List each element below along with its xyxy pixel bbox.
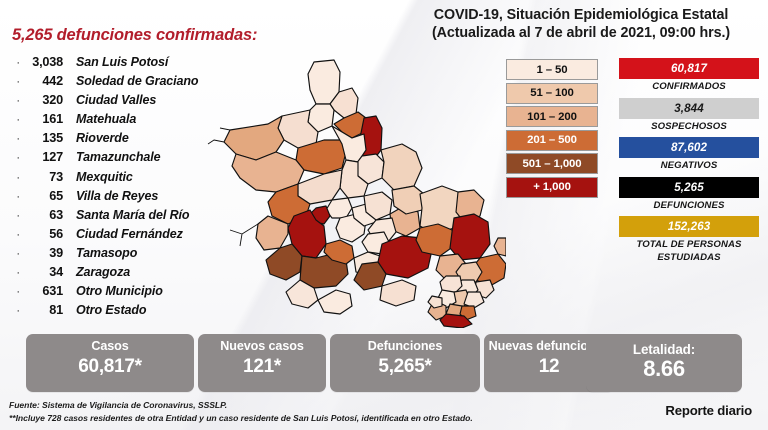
death-count: 631 <box>21 284 63 298</box>
map-region-san-ciro[interactable] <box>380 280 416 306</box>
bullet-icon: · <box>12 230 20 241</box>
map-region-san-nicolas[interactable] <box>318 290 352 314</box>
page-title-line1: COVID-19, Situación Epidemiológica Estat… <box>434 7 729 23</box>
statistics-panel: 60,817CONFIRMADOS3,844SOSPECHOSOS87,602N… <box>619 58 759 268</box>
stat-value: 87,602 <box>671 141 707 154</box>
death-count: 34 <box>21 265 63 279</box>
stat-value: 152,263 <box>668 220 711 233</box>
summary-pill-label: Letalidad: <box>586 334 742 357</box>
footer: Fuente: Sistema de Vigilancia de Coronav… <box>9 399 609 424</box>
death-count: 56 <box>21 227 63 241</box>
summary-bar: Casos60,817*Nuevos casos121*Defunciones5… <box>26 334 742 392</box>
bullet-icon: · <box>12 77 20 88</box>
legend-item-label: 1 – 50 <box>536 64 567 76</box>
stat-label: CONFIRMADOS <box>619 79 759 94</box>
map-region-tamasopo[interactable] <box>416 224 454 256</box>
municipality-name: Soledad de Graciano <box>76 74 198 88</box>
stat-block-sospechosos: 3,844SOSPECHOSOS <box>619 98 759 134</box>
map-region-ahualulco[interactable] <box>298 170 342 204</box>
legend-item-2[interactable]: 51 – 100 <box>506 83 598 104</box>
bullet-icon: · <box>12 192 20 203</box>
summary-pill-value: 8.66 <box>586 357 742 380</box>
summary-pill-label: Casos <box>26 334 194 354</box>
municipality-name: Otro Municipio <box>76 284 163 298</box>
bullet-icon: · <box>12 249 20 260</box>
summary-pill-label: Nuevos casos <box>198 334 326 354</box>
municipality-name: Tamazunchale <box>76 150 160 164</box>
death-count: 442 <box>21 74 63 88</box>
legend-item-1[interactable]: 1 – 50 <box>506 59 598 80</box>
legend-item-label: 101 – 200 <box>527 111 577 123</box>
map-region-guadalcazar[interactable] <box>381 144 422 190</box>
map-region-san-martin[interactable] <box>428 296 442 308</box>
stat-label: TOTAL DE PERSONAS ESTUDIADAS <box>619 237 759 264</box>
legend-item-5[interactable]: 501 – 1,000 <box>506 153 598 174</box>
death-count: 320 <box>21 93 63 107</box>
stat-block-total-de-personas-estudiadas: 152,263TOTAL DE PERSONAS ESTUDIADAS <box>619 216 759 264</box>
municipality-name: Matehuala <box>76 112 136 126</box>
municipality-name: Rioverde <box>76 131 129 145</box>
map-border-tail-southwest[interactable] <box>230 224 258 246</box>
bullet-icon: · <box>12 96 20 107</box>
summary-pill-nuevos-casos[interactable]: Nuevos casos121* <box>198 334 326 392</box>
stat-value-bar: 60,817 <box>619 58 759 79</box>
stat-label: NEGATIVOS <box>619 158 759 173</box>
municipality-name: Mexquitic <box>76 170 133 184</box>
map-region-ebano[interactable] <box>494 238 506 256</box>
death-count: 161 <box>21 112 63 126</box>
stat-value-bar: 3,844 <box>619 98 759 119</box>
stat-block-defunciones: 5,265DEFUNCIONES <box>619 177 759 213</box>
legend-item-4[interactable]: 201 – 500 <box>506 130 598 151</box>
death-count: 3,038 <box>21 55 63 69</box>
legend-item-label: 201 – 500 <box>527 134 577 146</box>
municipality-name: Tamasopo <box>76 246 137 260</box>
municipality-name: Ciudad Fernández <box>76 227 183 241</box>
legend-item-6[interactable]: + 1,000 <box>506 177 598 198</box>
death-count: 65 <box>21 189 63 203</box>
stat-block-confirmados: 60,817CONFIRMADOS <box>619 58 759 94</box>
municipality-name: Ciudad Valles <box>76 93 156 107</box>
map-svg <box>206 58 506 328</box>
bullet-icon: · <box>12 287 20 298</box>
municipality-name: Santa María del Río <box>76 208 189 222</box>
map-legend: 1 – 5051 – 100101 – 200201 – 500501 – 1,… <box>506 59 598 201</box>
bullet-icon: · <box>12 134 20 145</box>
legend-item-label: 51 – 100 <box>530 87 574 99</box>
stat-block-negativos: 87,602NEGATIVOS <box>619 137 759 173</box>
summary-pill-casos[interactable]: Casos60,817* <box>26 334 194 392</box>
municipality-name: Villa de Reyes <box>76 189 158 203</box>
death-count: 63 <box>21 208 63 222</box>
report-daily-label: Reporte diario <box>665 403 752 418</box>
death-count: 127 <box>21 150 63 164</box>
page-title: COVID-19, Situación Epidemiológica Estat… <box>394 6 768 42</box>
san-luis-potosi-map[interactable] <box>206 58 506 328</box>
summary-pill-value: 121* <box>198 354 326 378</box>
bullet-icon: · <box>12 115 20 126</box>
stat-value: 3,844 <box>674 102 704 115</box>
dashboard-root: COVID-19, Situación Epidemiológica Estat… <box>0 0 768 430</box>
municipality-name: San Luis Potosí <box>76 55 168 69</box>
map-region-ciudad-valles[interactable] <box>450 214 490 260</box>
municipality-name: Otro Estado <box>76 303 146 317</box>
footer-source: Fuente: Sistema de Vigilancia de Coronav… <box>9 399 609 412</box>
legend-item-label: + 1,000 <box>533 181 571 193</box>
death-count: 81 <box>21 303 63 317</box>
summary-pill-letalidad[interactable]: Letalidad:8.66 <box>586 334 742 392</box>
bullet-icon: · <box>12 306 20 317</box>
legend-item-3[interactable]: 101 – 200 <box>506 106 598 127</box>
stat-label: SOSPECHOSOS <box>619 119 759 134</box>
summary-pill-value: 60,817* <box>26 354 194 378</box>
municipality-name: Zaragoza <box>76 265 130 279</box>
summary-pill-label: Defunciones <box>330 334 480 354</box>
stat-value-bar: 87,602 <box>619 137 759 158</box>
legend-item-label: 501 – 1,000 <box>522 158 581 170</box>
stat-value: 5,265 <box>674 181 704 194</box>
bullet-icon: · <box>12 268 20 279</box>
stat-value-bar: 5,265 <box>619 177 759 198</box>
stat-value-bar: 152,263 <box>619 216 759 237</box>
footer-note: **Incluye 728 casos residentes de otra E… <box>9 412 609 425</box>
bullet-icon: · <box>12 153 20 164</box>
death-count: 135 <box>21 131 63 145</box>
bullet-icon: · <box>12 173 20 184</box>
death-count: 39 <box>21 246 63 260</box>
summary-pill-value: 5,265* <box>330 354 480 378</box>
summary-pill-defunciones[interactable]: Defunciones5,265* <box>330 334 480 392</box>
stat-value: 60,817 <box>671 62 707 75</box>
bullet-icon: · <box>12 211 20 222</box>
death-count: 73 <box>21 170 63 184</box>
bullet-icon: · <box>12 58 20 69</box>
stat-label: DEFUNCIONES <box>619 198 759 213</box>
page-title-line2: (Actualizada al 7 de abril de 2021, 09:0… <box>394 24 768 42</box>
deaths-heading: 5,265 defunciones confirmadas: <box>12 26 257 45</box>
